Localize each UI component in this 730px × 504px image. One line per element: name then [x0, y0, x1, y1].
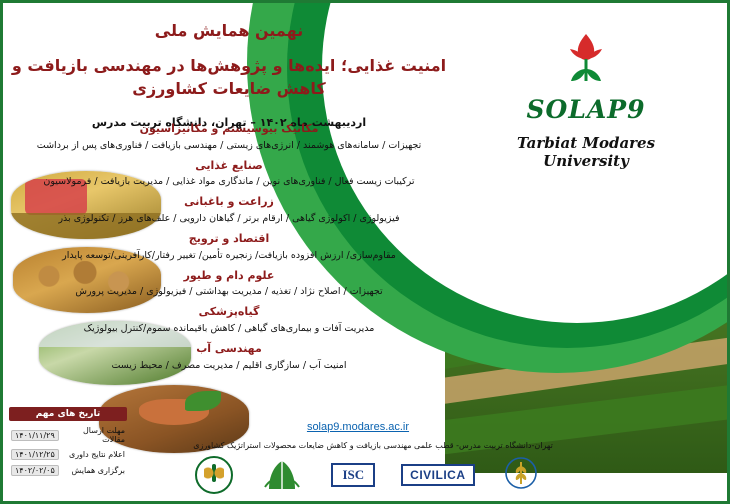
topic-items: ترکیبات زیست فعال / فناوری‌های نوین / ما…	[3, 174, 455, 189]
green-society-logo	[259, 456, 305, 494]
logo-title: SOLAP9	[481, 95, 691, 124]
headline-line2: امنیت غذایی؛ ایده‌ها و پژوهش‌ها در مهندس…	[3, 54, 455, 100]
topics-list: مکانیک بیوسیستم و مکانیزاسیون تجهیزات / …	[3, 121, 455, 378]
isc-logo[interactable]: ISC	[331, 456, 375, 494]
topic-title: علوم دام و طیور	[3, 268, 455, 285]
topic-items: تجهیزات / اصلاح نژاد / تغذیه / مدیریت به…	[3, 284, 455, 299]
topic-items: مقاوم‌سازی/ ارزش افزوده بازیافت/ زنجیره …	[3, 248, 455, 263]
date-value: ۱۴۰۱/۱۱/۲۹	[11, 430, 59, 441]
topic-item: مکانیک بیوسیستم و مکانیزاسیون تجهیزات / …	[3, 121, 455, 153]
logo-subtitle: Tarbiat Modares University	[481, 134, 691, 170]
headline-block: نهمین همایش ملی امنیت غذایی؛ ایده‌ها و پ…	[3, 21, 455, 129]
date-label: مهلت ارسال مقالات	[59, 426, 125, 444]
conference-poster: SOLAP9 Tarbiat Modares University نهمین …	[0, 0, 730, 504]
footer-logo-strip: CIVILICA ISC	[3, 449, 730, 501]
topic-items: فیزیولوژی / اکولوژی گیاهی / ارقام برتر /…	[3, 211, 455, 226]
topic-title: مهندسی آب	[3, 341, 455, 358]
topic-item: زراعت و باغبانی فیزیولوژی / اکولوژی گیاه…	[3, 194, 455, 226]
important-dates-heading: تاریخ های مهم	[9, 407, 127, 421]
topic-title: اقتصاد و ترویج	[3, 231, 455, 248]
university-seal-logo	[195, 456, 233, 494]
topic-title: مکانیک بیوسیستم و مکانیزاسیون	[3, 121, 455, 138]
topic-item: صنایع غذایی ترکیبات زیست فعال / فناوری‌ه…	[3, 158, 455, 190]
headline-line1: نهمین همایش ملی	[3, 21, 455, 40]
civilica-logo-text: CIVILICA	[401, 464, 474, 486]
topic-title: گیاه‌پزشکی	[3, 304, 455, 321]
topic-items: تجهیزات / سامانه‌های هوشمند / انرژی‌های …	[3, 138, 455, 153]
isc-logo-text: ISC	[331, 463, 375, 487]
topic-item: مهندسی آب امنیت آب / سازگاری اقلیم / مدی…	[3, 341, 455, 373]
date-row: مهلت ارسال مقالات ۱۴۰۱/۱۱/۲۹	[9, 426, 127, 444]
website-link[interactable]: solap9.modares.ac.ir	[253, 421, 463, 433]
topic-item: اقتصاد و ترویج مقاوم‌سازی/ ارزش افزوده ب…	[3, 231, 455, 263]
topic-title: زراعت و باغبانی	[3, 194, 455, 211]
topic-items: مدیریت آفات و بیماری‌های گیاهی / کاهش با…	[3, 321, 455, 336]
wheat-emblem-logo	[501, 456, 541, 494]
civilica-logo[interactable]: CIVILICA	[401, 456, 474, 494]
tulip-leaf-icon	[557, 29, 615, 91]
topic-title: صنایع غذایی	[3, 158, 455, 175]
university-seal-mark	[195, 456, 233, 494]
topic-item: علوم دام و طیور تجهیزات / اصلاح نژاد / ت…	[3, 268, 455, 300]
topic-item: گیاه‌پزشکی مدیریت آفات و بیماری‌های گیاه…	[3, 304, 455, 336]
solap-logo-block: SOLAP9 Tarbiat Modares University	[481, 29, 691, 170]
topic-items: امنیت آب / سازگاری اقلیم / مدیریت مصرف /…	[3, 358, 455, 373]
